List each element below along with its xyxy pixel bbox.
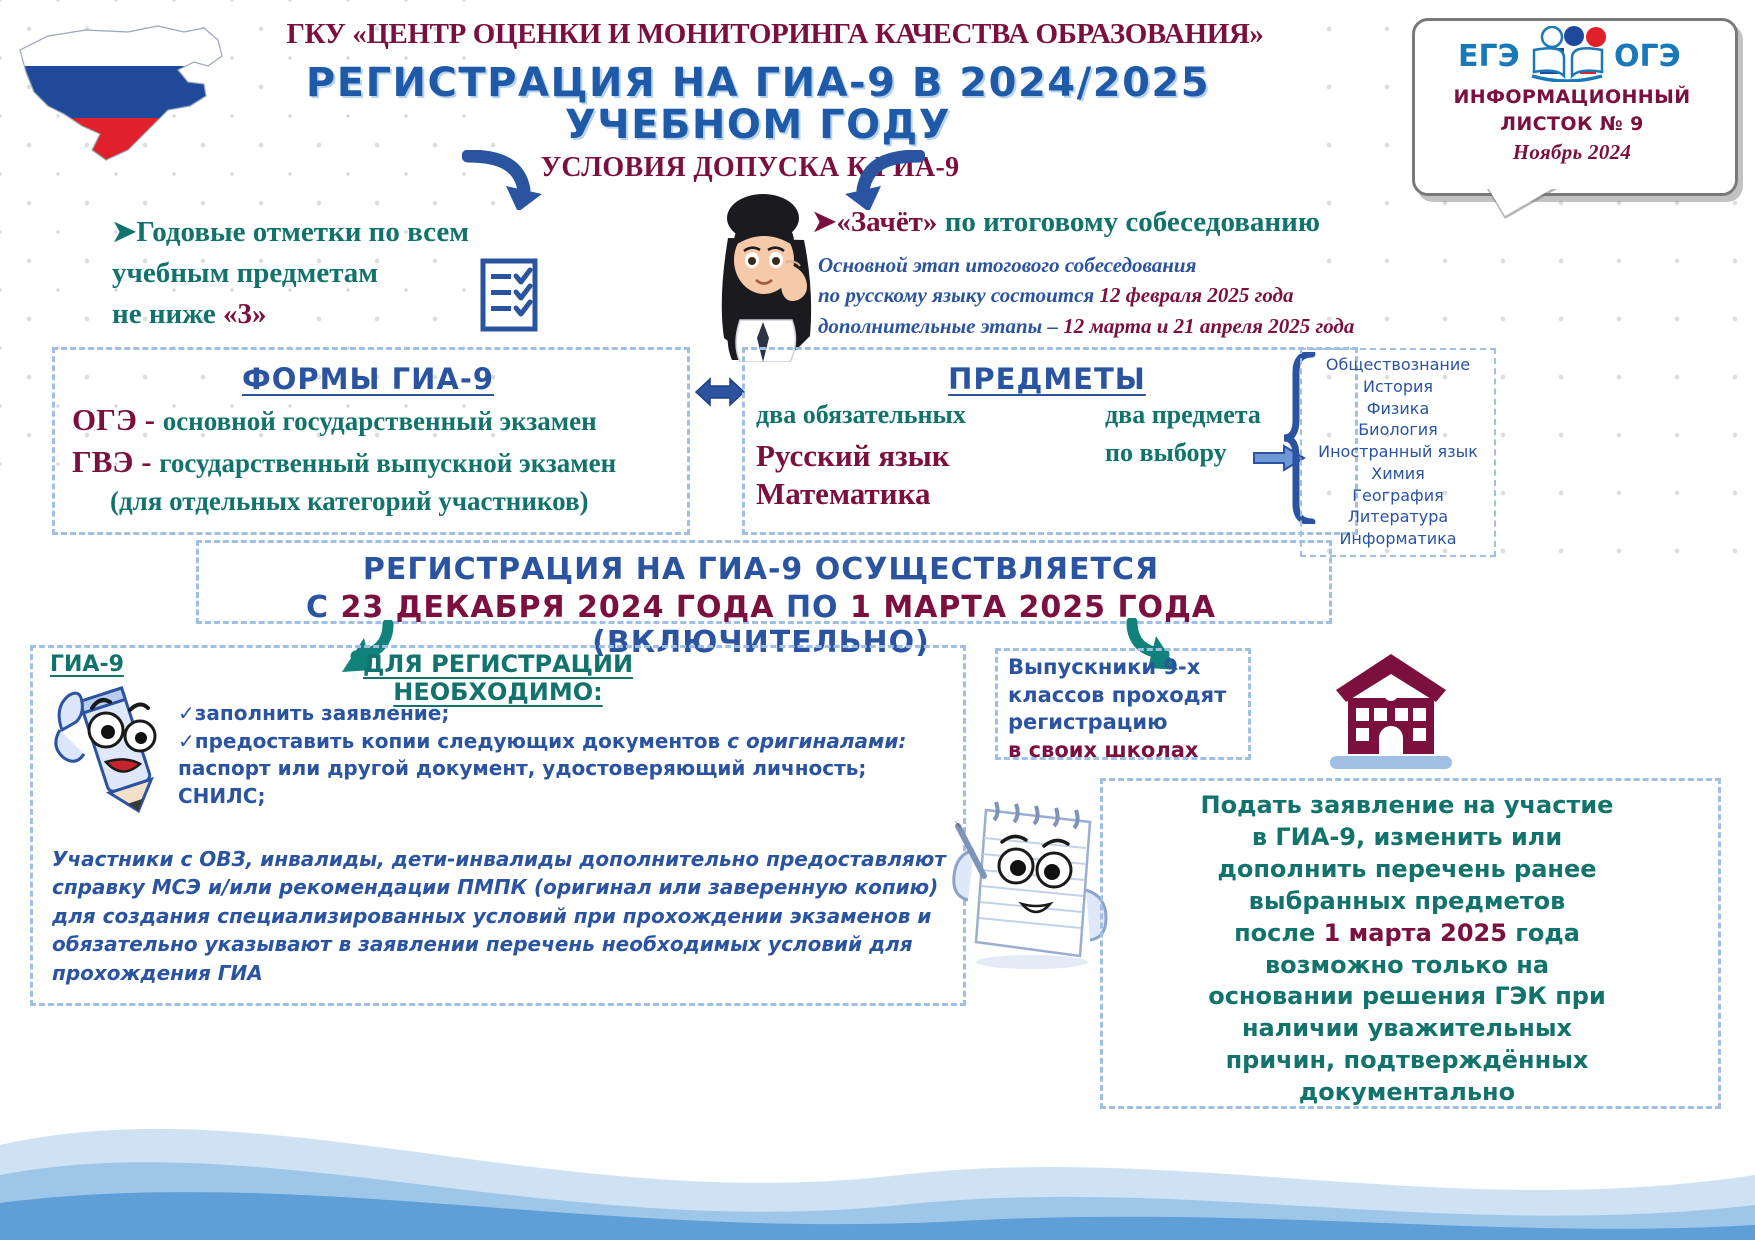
gia9-tag: ГИА-9 [50, 652, 124, 677]
bullet-chevron-icon: ➤ [112, 216, 136, 248]
condition-left-line1: Годовые отметки по всем [136, 216, 469, 248]
subject-item: Иностранный язык [1308, 441, 1488, 463]
after-line7: основании решения ГЭК при [1112, 981, 1702, 1013]
mandatory-subject-math: Математика [756, 476, 1056, 512]
after-line9: причин, подтверждённых [1112, 1045, 1702, 1077]
requirement-item-4: СНИЛС; [178, 783, 948, 811]
bulletin-label-line2: ЛИСТОК № 9 [1412, 113, 1732, 135]
forms-row-oge: ОГЭ - основной государственный экзамен [72, 402, 712, 438]
after-line10: документально [1112, 1077, 1702, 1109]
subject-item: Физика [1308, 398, 1488, 420]
condition-left-line2: учебным предметам [112, 257, 378, 289]
subject-item: География [1308, 485, 1488, 507]
page-title: РЕГИСТРАЦИЯ НА ГИА-9 В 2024/2025 УЧЕБНОМ… [258, 62, 1258, 146]
after-line8: наличии уважительных [1112, 1013, 1702, 1045]
condition-left-grade: «3» [223, 298, 267, 330]
forms-abbr-oge: ОГЭ [72, 402, 137, 437]
subject-item: История [1308, 376, 1488, 398]
bulletin-label-line1: ИНФОРМАЦИОННЫЙ [1412, 86, 1732, 108]
forms-abbr-gve: ГВЭ [72, 444, 133, 479]
ovz-note: Участники с ОВЗ, инвалиды, дети-инвалиды… [52, 845, 952, 987]
graduates-line3: регистрацию [1008, 709, 1238, 737]
after-line4: выбранных предметов [1112, 886, 1702, 918]
interview-note-line2: по русскому языку состоится 12 февраля 2… [818, 280, 1458, 310]
condition-right-rest: по итоговому собеседованию [937, 206, 1320, 238]
subject-item: Химия [1308, 463, 1488, 485]
after-line1: Подать заявление на участие [1112, 790, 1702, 822]
after-deadline-text: Подать заявление на участие в ГИА-9, изм… [1112, 790, 1702, 1109]
svg-text:ОГЭ: ОГЭ [1614, 39, 1681, 74]
after-line6: возможно только на [1112, 950, 1702, 982]
graduates-line1: Выпускники 9-х [1008, 654, 1238, 682]
condition-left-line3: не ниже [112, 298, 223, 330]
optional-subjects-list: Обществознание История Физика Биология И… [1300, 348, 1496, 557]
condition-annual-marks: ➤Годовые отметки по всем учебным предмет… [112, 212, 542, 336]
condition-final-interview: ➤«Зачёт» по итоговому собеседованию [812, 204, 1432, 239]
bulletin-date: Ноябрь 2024 [1412, 140, 1732, 165]
svg-text:ЕГЭ: ЕГЭ [1458, 39, 1520, 74]
organization-title: ГКУ «ЦЕНТР ОЦЕНКИ И МОНИТОРИНГА КАЧЕСТВА… [270, 18, 1280, 51]
ege-oge-logo-icon: ЕГЭ ОГЭ [1454, 26, 1694, 82]
forms-note: (для отдельных категорий участников) [110, 486, 750, 517]
crimea-flag-map-icon [8, 10, 248, 170]
after-line3: дополнить перечень ранее [1112, 854, 1702, 886]
requirement-item-1: ✓заполнить заявление; [178, 700, 948, 728]
registration-banner-line1: РЕГИСТРАЦИЯ НА ГИА-9 ОСУЩЕСТВЛЯЕТСЯ [196, 552, 1326, 587]
subjects-title: ПРЕДМЕТЫ [742, 362, 1352, 396]
curved-arrow-right-icon [845, 150, 925, 210]
subject-item: Информатика [1308, 528, 1488, 550]
school-building-icon [1296, 650, 1486, 770]
subject-item: Литература [1308, 506, 1488, 528]
bullet-chevron-icon-2: ➤ [812, 206, 836, 238]
notepad-mascot-illustration [940, 780, 1120, 970]
condition-right-quoted: «Зачёт» [836, 206, 937, 238]
requirement-item-2: ✓предоставить копии следующих документов… [178, 728, 948, 756]
graduates-line4: в своих школах [1008, 737, 1238, 765]
after-line2: в ГИА-9, изменить или [1112, 822, 1702, 854]
mandatory-subject-russian: Русский язык [756, 438, 1056, 474]
checklist-icon [480, 258, 538, 332]
curved-arrow-left-icon [462, 150, 542, 210]
final-interview-dates: Основной этап итогового собеседования по… [818, 250, 1458, 341]
registration-start-date: 23 ДЕКАБРЯ 2024 ГОДА [340, 590, 774, 625]
forms-row-gve: ГВЭ - государственный выпускной экзамен [72, 444, 712, 480]
double-arrow-icon [694, 375, 746, 409]
subject-item: Биология [1308, 419, 1488, 441]
forms-title: ФОРМЫ ГИА-9 [52, 362, 684, 396]
bubble-tail [1487, 186, 1557, 216]
after-line5: после 1 марта 2025 года [1112, 918, 1702, 950]
mandatory-label: два обязательных [756, 400, 1036, 430]
forms-text-gve: государственный выпускной экзамен [159, 448, 616, 478]
requirements-title: ДЛЯ РЕГИСТРАЦИИ НЕОБХОДИМО: [268, 650, 728, 706]
interview-note-line3: дополнительные этапы – 12 марта и 21 апр… [818, 311, 1458, 341]
forms-text-oge: основной государственный экзамен [163, 406, 597, 436]
graduates-line2: классов проходят [1008, 682, 1238, 710]
interview-note-line1: Основной этап итогового собеседования [818, 250, 1458, 280]
infographic-poster: ГКУ «ЦЕНТР ОЦЕНКИ И МОНИТОРИНГА КАЧЕСТВА… [0, 0, 1755, 1240]
graduates-text: Выпускники 9-х классов проходят регистра… [1008, 654, 1238, 765]
pencil-mascot-illustration [48, 678, 188, 818]
subject-item: Обществознание [1308, 354, 1488, 376]
requirement-item-3: паспорт или другой документ, удостоверяю… [178, 755, 948, 783]
requirements-list: ✓заполнить заявление; ✓предоставить копи… [178, 700, 948, 810]
girl-student-illustration [700, 192, 830, 362]
